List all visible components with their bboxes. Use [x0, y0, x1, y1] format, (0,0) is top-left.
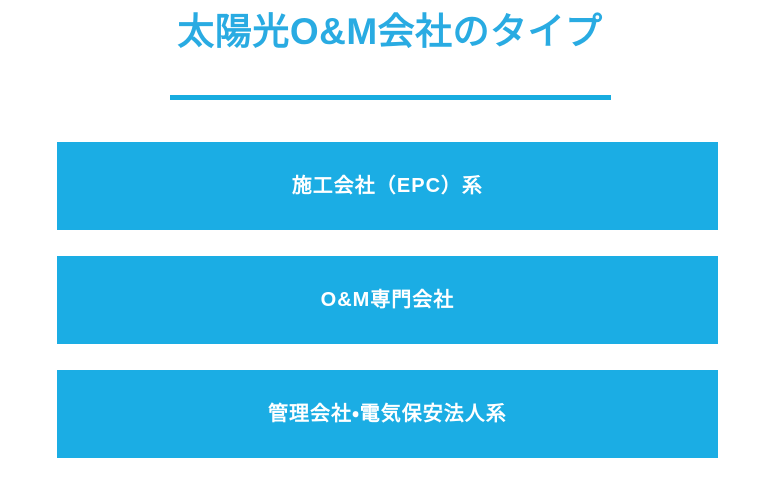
- title-underline-bar: [170, 95, 611, 100]
- company-type-label: 管理会社・電気保安法人系: [268, 402, 507, 426]
- company-type-label: 施工会社（EPC）系: [292, 174, 483, 198]
- company-type-box-3: 管理会社・電気保安法人系: [57, 370, 718, 458]
- infographic-canvas: 太陽光O&M会社のタイプ 施工会社（EPC）系 O&M専門会社 管理会社・電気保…: [0, 0, 780, 482]
- company-type-box-1: 施工会社（EPC）系: [57, 142, 718, 230]
- title-block: 太陽光O&M会社のタイプ: [0, 10, 780, 54]
- title-divider: [0, 95, 780, 101]
- page-title: 太陽光O&M会社のタイプ: [177, 10, 602, 54]
- company-type-label: O&M専門会社: [321, 288, 455, 312]
- company-type-box-2: O&M専門会社: [57, 256, 718, 344]
- company-type-list: 施工会社（EPC）系 O&M専門会社 管理会社・電気保安法人系: [57, 142, 718, 458]
